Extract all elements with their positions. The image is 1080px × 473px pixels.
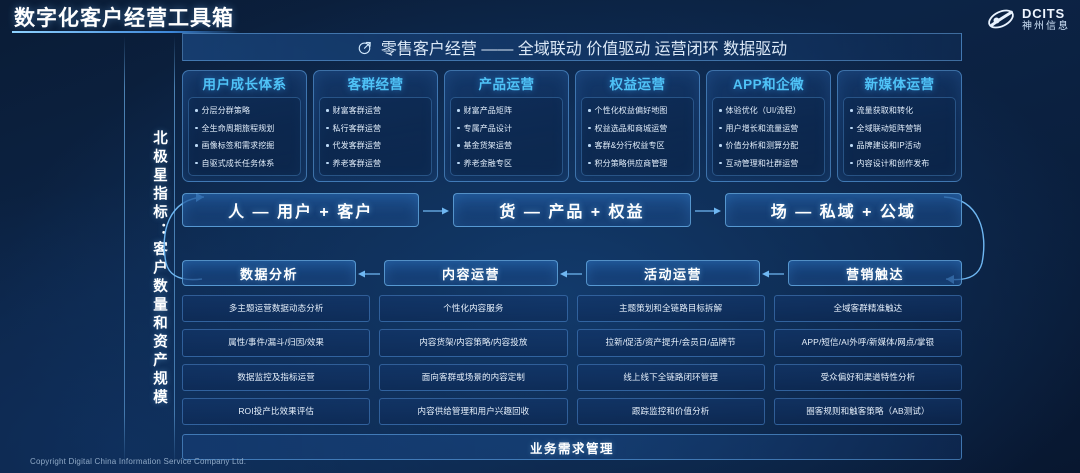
bullet-dot-icon [457, 109, 460, 112]
grid-cell[interactable]: 多主题运营数据动态分析 [182, 295, 370, 322]
operation-section-row: 数据分析 内容运营 活动运营 营销触达 [182, 260, 962, 286]
list-item: 内容设计和创作发布 [849, 158, 952, 169]
list-item: 画像标签和需求挖掘 [194, 140, 297, 151]
list-item: 专属产品设计 [456, 123, 559, 134]
grid-cell[interactable]: 主题策划和全链路目标拆解 [577, 295, 765, 322]
list-item: 客群&分行权益专区 [587, 140, 690, 151]
bullet-dot-icon [457, 127, 460, 130]
section-data-analysis[interactable]: 数据分析 [182, 260, 356, 286]
list-item: 互动管理和社群运营 [718, 158, 821, 169]
grid-cell[interactable]: 圈客规则和触客策略（AB测试） [774, 398, 962, 425]
list-item: 全域联动矩阵营销 [849, 123, 952, 134]
card-title: 权益运营 [581, 77, 694, 93]
card-body: 流量获取和转化 全域联动矩阵营销 品牌建设和IP活动 内容设计和创作发布 [843, 97, 956, 176]
card-user-growth[interactable]: 用户成长体系 分层分群策略 全生命周期旅程规划 画像标签和需求挖掘 自驱式成长任… [182, 70, 307, 182]
list-item-label: 养老金融专区 [464, 158, 513, 169]
logo-text-cn: 神州信息 [1022, 22, 1070, 32]
grid-cell[interactable]: 受众偏好和渠道特性分析 [774, 364, 962, 391]
bullet-dot-icon [588, 144, 591, 147]
bullet-dot-icon [850, 127, 853, 130]
list-item-label: 基金货架运营 [464, 140, 513, 151]
card-app-wecom[interactable]: APP和企微 体验优化（UI/流程） 用户增长和流量运营 价值分析和测算分配 互… [706, 70, 831, 182]
list-item: 个性化权益偏好地图 [587, 105, 690, 116]
card-title: APP和企微 [712, 77, 825, 93]
page-title: 数字化客户经营工具箱 [14, 2, 234, 32]
grid-cell[interactable]: 跟踪监控和价值分析 [577, 398, 765, 425]
grid-cell[interactable]: 属性/事件/漏斗/归因/效果 [182, 329, 370, 356]
list-item: 体验优化（UI/流程） [718, 105, 821, 116]
strategy-banner: 零售客户经营 —— 全域联动 价值驱动 运营闭环 数据驱动 [182, 33, 962, 61]
list-item-label: 个性化权益偏好地图 [595, 105, 668, 116]
list-item-label: 互动管理和社群运营 [726, 158, 799, 169]
copyright-text: Copyright Digital China Information Serv… [30, 457, 246, 466]
grid-cell[interactable]: APP/短信/AI外呼/新媒体/网点/掌银 [774, 329, 962, 356]
list-item-label: 体验优化（UI/流程） [726, 105, 801, 116]
left-divider-line-outer [124, 36, 125, 466]
grid-cell[interactable]: 数据监控及指标运营 [182, 364, 370, 391]
list-item-label: 用户增长和流量运营 [726, 123, 799, 134]
bullet-dot-icon [195, 162, 198, 165]
card-body: 分层分群策略 全生命周期旅程规划 画像标签和需求挖掘 自驱式成长任务体系 [188, 97, 301, 176]
arrow-left-icon [356, 267, 384, 279]
list-item-label: 财富客群运营 [333, 105, 382, 116]
column-marketing-reach: 全域客群精准触达 APP/短信/AI外呼/新媒体/网点/掌银 受众偏好和渠道特性… [774, 295, 962, 425]
grid-cell[interactable]: 个性化内容服务 [379, 295, 567, 322]
list-item-label: 内容设计和创作发布 [857, 158, 930, 169]
bullet-dot-icon [195, 144, 198, 147]
grid-cell[interactable]: ROI投产比效果评估 [182, 398, 370, 425]
arrow-right-icon [419, 204, 453, 216]
card-title: 客群经营 [319, 77, 432, 93]
list-item: 财富客群运营 [325, 105, 428, 116]
list-item-label: 权益选品和商城运营 [595, 123, 668, 134]
pillar-field[interactable]: 场 — 私域 + 公域 [725, 193, 962, 227]
arrow-left-icon [558, 267, 586, 279]
target-arrow-icon [357, 40, 372, 55]
list-item: 全生命周期旅程规划 [194, 123, 297, 134]
capability-cards-row: 用户成长体系 分层分群策略 全生命周期旅程规划 画像标签和需求挖掘 自驱式成长任… [182, 70, 962, 182]
bullet-dot-icon [457, 144, 460, 147]
bullet-dot-icon [719, 144, 722, 147]
card-rights-operation[interactable]: 权益运营 个性化权益偏好地图 权益选品和商城运营 客群&分行权益专区 积分策略供… [575, 70, 700, 182]
card-customer-segment[interactable]: 客群经营 财富客群运营 私行客群运营 代发客群运营 养老客群运营 [313, 70, 438, 182]
list-item-label: 私行客群运营 [333, 123, 382, 134]
list-item: 自驱式成长任务体系 [194, 158, 297, 169]
list-item: 财富产品矩阵 [456, 105, 559, 116]
list-item-label: 全生命周期旅程规划 [202, 123, 275, 134]
bullet-dot-icon [195, 109, 198, 112]
column-campaign-operation: 主题策划和全链路目标拆解 拉新/促活/资产提升/会员日/品牌节 线上线下全链路闭… [577, 295, 765, 425]
pillar-people[interactable]: 人 — 用户 + 客户 [182, 193, 419, 227]
page-header: 数字化客户经营工具箱 DCITS 神州信息 [0, 0, 1080, 34]
list-item-label: 财富产品矩阵 [464, 105, 513, 116]
card-body: 体验优化（UI/流程） 用户增长和流量运营 价值分析和测算分配 互动管理和社群运… [712, 97, 825, 176]
list-item: 分层分群策略 [194, 105, 297, 116]
list-item-label: 养老客群运营 [333, 158, 382, 169]
section-content-operation[interactable]: 内容运营 [384, 260, 558, 286]
bullet-dot-icon [326, 109, 329, 112]
card-title: 用户成长体系 [188, 77, 301, 93]
bullet-dot-icon [719, 162, 722, 165]
list-item-label: 积分策略供应商管理 [595, 158, 668, 169]
column-content-operation: 个性化内容服务 内容货架/内容策略/内容投放 面向客群或场景的内容定制 内容供给… [379, 295, 567, 425]
list-item: 养老客群运营 [325, 158, 428, 169]
card-body: 财富产品矩阵 专属产品设计 基金货架运营 养老金融专区 [450, 97, 563, 176]
grid-cell[interactable]: 线上线下全链路闭环管理 [577, 364, 765, 391]
operation-detail-grid: 多主题运营数据动态分析 属性/事件/漏斗/归因/效果 数据监控及指标运营 ROI… [182, 295, 962, 425]
list-item: 积分策略供应商管理 [587, 158, 690, 169]
list-item: 基金货架运营 [456, 140, 559, 151]
section-campaign-operation[interactable]: 活动运营 [586, 260, 760, 286]
list-item-label: 分层分群策略 [202, 105, 251, 116]
list-item: 价值分析和测算分配 [718, 140, 821, 151]
list-item: 代发客群运营 [325, 140, 428, 151]
bullet-dot-icon [588, 127, 591, 130]
bullet-dot-icon [326, 127, 329, 130]
list-item: 用户增长和流量运营 [718, 123, 821, 134]
arrow-right-icon [691, 204, 725, 216]
card-body: 财富客群运营 私行客群运营 代发客群运营 养老客群运营 [319, 97, 432, 176]
business-requirement-bar[interactable]: 业务需求管理 [182, 434, 962, 460]
list-item: 养老金融专区 [456, 158, 559, 169]
list-item: 品牌建设和IP活动 [849, 140, 952, 151]
section-marketing-reach[interactable]: 营销触达 [788, 260, 962, 286]
card-title: 新媒体运营 [843, 77, 956, 93]
grid-cell[interactable]: 内容货架/内容策略/内容投放 [379, 329, 567, 356]
bullet-dot-icon [588, 162, 591, 165]
bullet-dot-icon [457, 162, 460, 165]
bullet-dot-icon [719, 127, 722, 130]
list-item-label: 流量获取和转化 [857, 105, 914, 116]
grid-cell[interactable]: 内容供给管理和用户兴趣回收 [379, 398, 567, 425]
dcits-swirl-icon [986, 6, 1016, 32]
logo-text-en: DCITS [1022, 7, 1070, 20]
bullet-dot-icon [850, 144, 853, 147]
brand-logo: DCITS 神州信息 [986, 6, 1070, 32]
list-item-label: 画像标签和需求挖掘 [202, 140, 275, 151]
banner-text: 零售客户经营 —— 全域联动 价值驱动 运营闭环 数据驱动 [381, 35, 787, 59]
card-title: 产品运营 [450, 77, 563, 93]
list-item-label: 自驱式成长任务体系 [202, 158, 275, 169]
list-item-label: 全域联动矩阵营销 [857, 123, 922, 134]
bullet-dot-icon [195, 127, 198, 130]
bullet-dot-icon [326, 162, 329, 165]
card-body: 个性化权益偏好地图 权益选品和商城运营 客群&分行权益专区 积分策略供应商管理 [581, 97, 694, 176]
card-new-media[interactable]: 新媒体运营 流量获取和转化 全域联动矩阵营销 品牌建设和IP活动 内容设计和创作… [837, 70, 962, 182]
pillar-row: 人 — 用户 + 客户 货 — 产品 + 权益 场 — 私域 + 公域 [182, 193, 962, 227]
list-item-label: 专属产品设计 [464, 123, 513, 134]
list-item-label: 客群&分行权益专区 [595, 140, 665, 151]
arrow-left-icon [760, 267, 788, 279]
list-item-label: 代发客群运营 [333, 140, 382, 151]
card-product-operation[interactable]: 产品运营 财富产品矩阵 专属产品设计 基金货架运营 养老金融专区 [444, 70, 569, 182]
pillar-goods[interactable]: 货 — 产品 + 权益 [453, 193, 690, 227]
bullet-dot-icon [719, 109, 722, 112]
list-item-label: 品牌建设和IP活动 [857, 140, 921, 151]
bullet-dot-icon [850, 109, 853, 112]
grid-cell[interactable]: 拉新/促活/资产提升/会员日/品牌节 [577, 329, 765, 356]
list-item-label: 价值分析和测算分配 [726, 140, 799, 151]
bullet-dot-icon [588, 109, 591, 112]
bullet-dot-icon [326, 144, 329, 147]
column-data-analysis: 多主题运营数据动态分析 属性/事件/漏斗/归因/效果 数据监控及指标运营 ROI… [182, 295, 370, 425]
list-item: 私行客群运营 [325, 123, 428, 134]
grid-cell[interactable]: 面向客群或场景的内容定制 [379, 364, 567, 391]
grid-cell[interactable]: 全域客群精准触达 [774, 295, 962, 322]
list-item: 流量获取和转化 [849, 105, 952, 116]
list-item: 权益选品和商城运营 [587, 123, 690, 134]
bullet-dot-icon [850, 162, 853, 165]
